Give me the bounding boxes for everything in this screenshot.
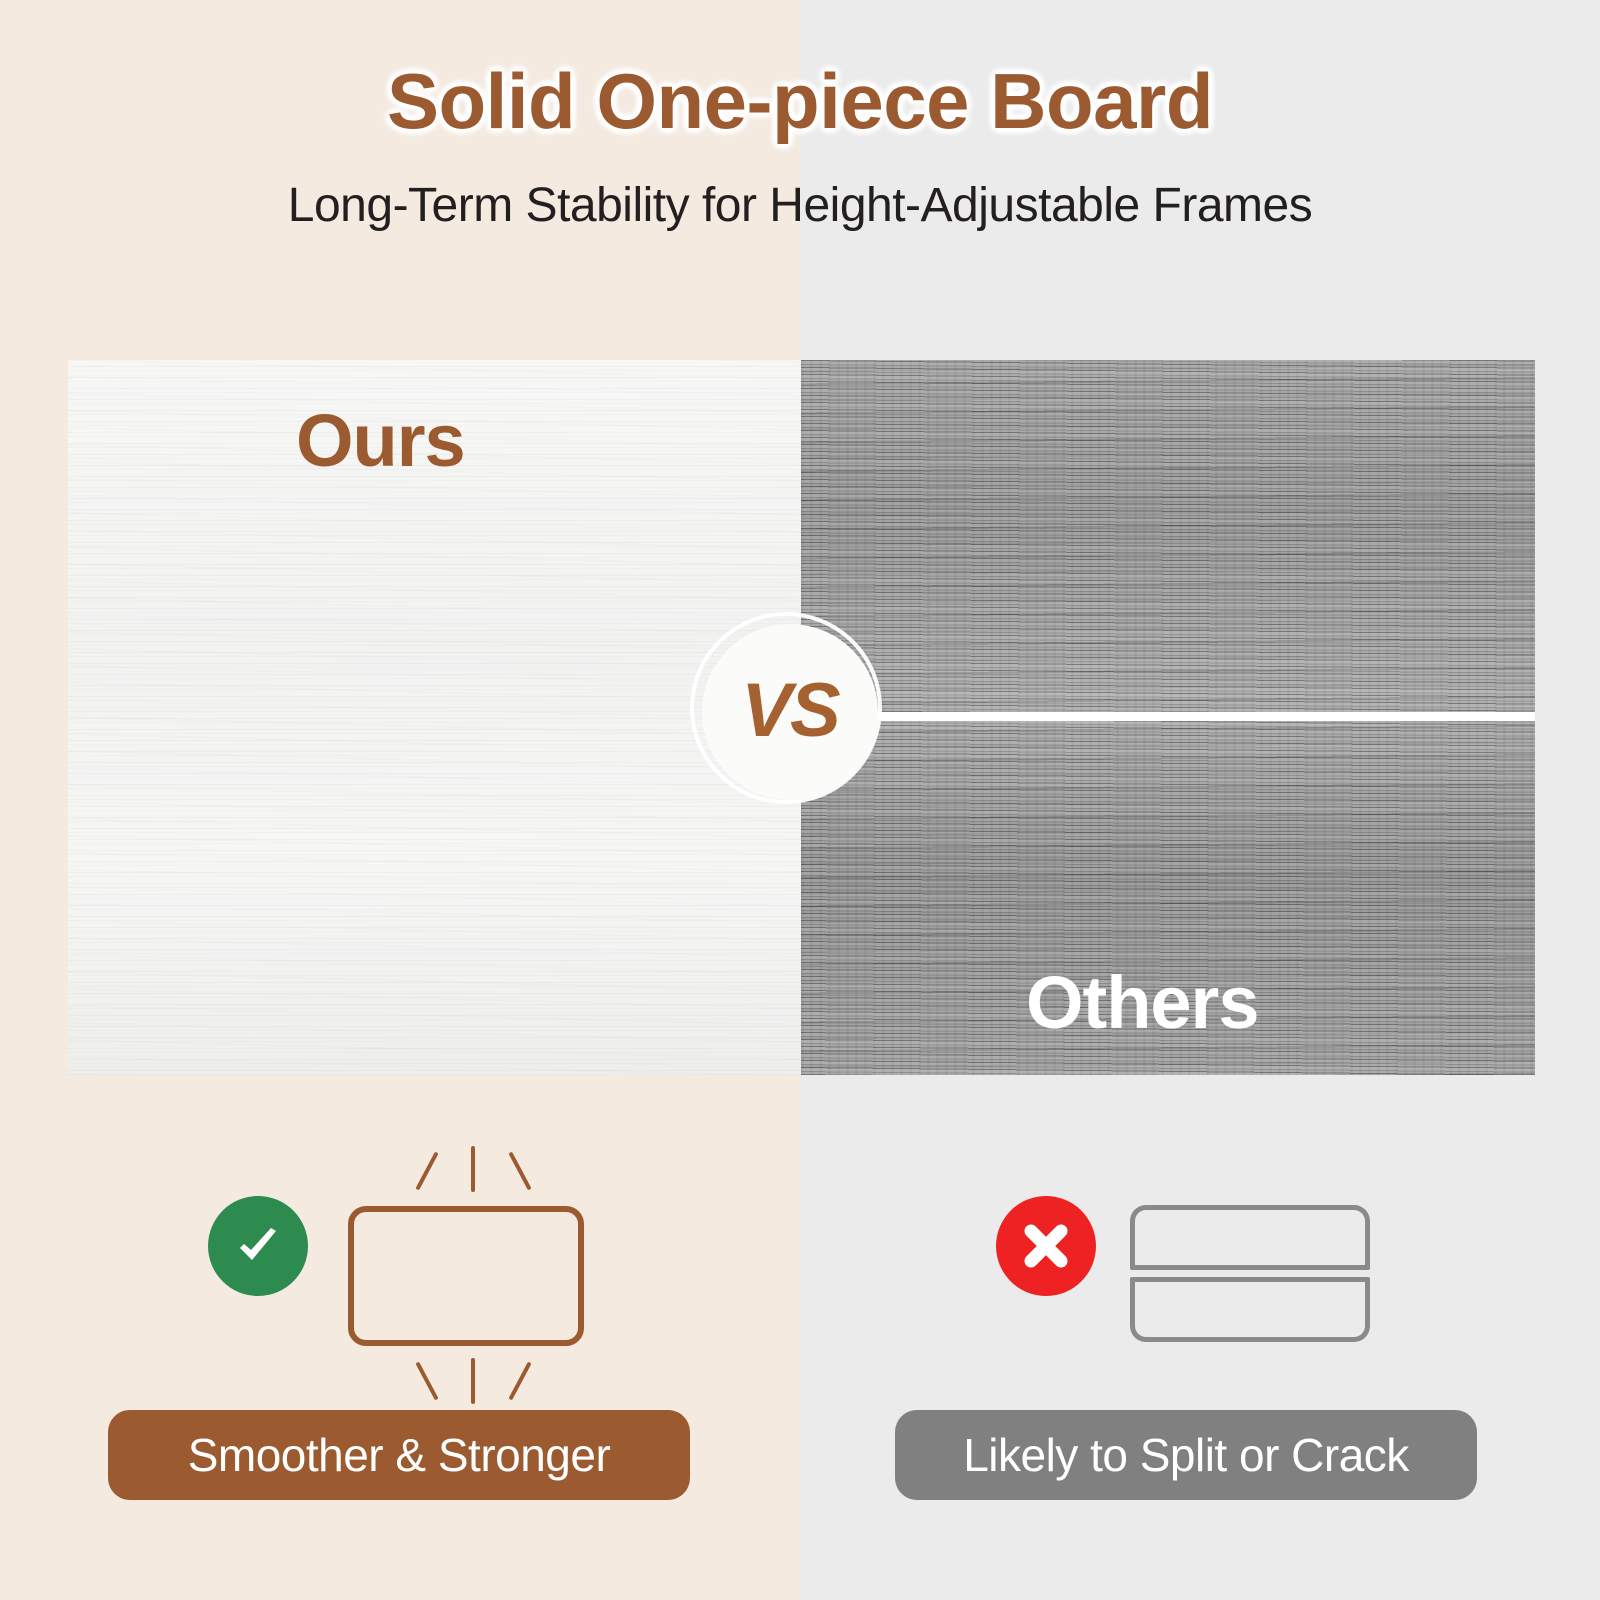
right-caption-text: Likely to Split or Crack (963, 1428, 1409, 1482)
ray-bottom-center (471, 1358, 475, 1404)
left-caption-text: Smoother & Stronger (188, 1428, 611, 1482)
comparison-infographic: Solid One-piece Board Long-Term Stabilit… (0, 0, 1600, 1600)
page-subtitle: Long-Term Stability for Height-Adjustabl… (0, 178, 1600, 233)
versus-badge: VS (690, 612, 890, 812)
right-caption-pill: Likely to Split or Crack (895, 1410, 1477, 1500)
split-board-icon-bottom (1130, 1277, 1370, 1342)
check-icon (208, 1196, 308, 1296)
left-caption-pill: Smoother & Stronger (108, 1410, 690, 1500)
others-board-label: Others (1026, 960, 1259, 1045)
versus-label: VS (741, 667, 838, 754)
ours-board-label: Ours (296, 398, 465, 483)
cross-icon (996, 1196, 1096, 1296)
ray-top-center (471, 1146, 475, 1192)
page-title: Solid One-piece Board (0, 56, 1600, 147)
split-board-icon-top (1130, 1205, 1370, 1270)
board-crack-line (801, 712, 1535, 721)
versus-disc: VS (702, 624, 878, 800)
solid-board-icon (348, 1206, 584, 1346)
